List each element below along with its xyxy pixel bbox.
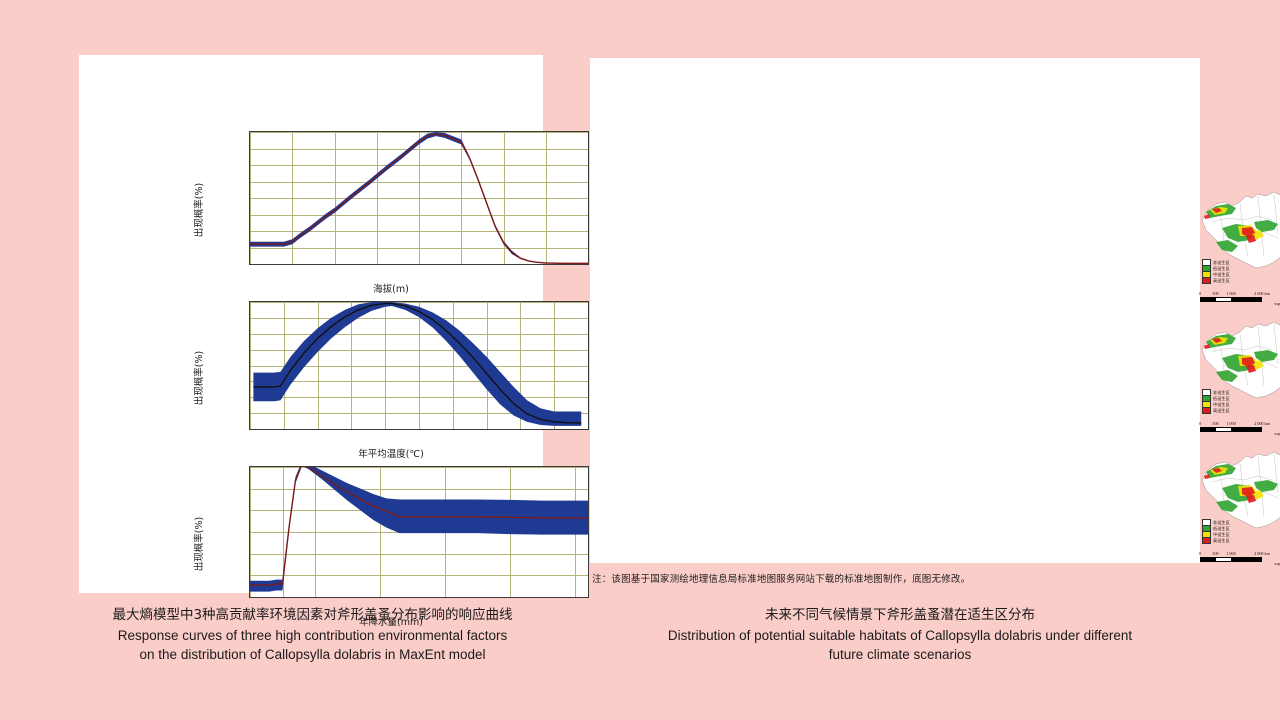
map-source-note: 注：该图基于国家测绘地理信息局标准地图服务网站下载的标准地图制作，底图无修改。 [592, 571, 1192, 585]
map-approval-number: 标准地图审图号：GS (2023) 2767 号 [1180, 540, 1280, 556]
chart-elevation-response: 出现概率(%) 0.0010.0020.0030.0040.0050.0060.… [171, 125, 611, 295]
scale-bar-segment [1231, 298, 1246, 301]
scale-bar-segment [1201, 558, 1216, 561]
chart-elevation-plot: 0.0010.0020.0030.0040.0050.0060.0070.008… [249, 131, 589, 265]
scale-bar-segment [1216, 298, 1231, 301]
slide-canvas: 出现概率(%) 0.0010.0020.0030.0040.0050.0060.… [0, 0, 1280, 720]
chart-temperature-plot: 0.0010.0020.0030.0040.0050.0060.0070.008… [249, 301, 589, 430]
chart-temperature-ylabel: 出现概率(%) [191, 350, 205, 404]
map-scenario-label: ssp126 (2041-2060) [1274, 431, 1280, 436]
map-scale-bar: 05001 0002 000 km [1200, 421, 1262, 432]
map-scenario-label: ssp126 (2061-2080) [1274, 561, 1280, 566]
left-figure-caption: 最大熵模型中3种高贡献率环境因素对斧形盖蚤分布影响的响应曲线 Response … [40, 606, 585, 665]
map-grid: N非适生区低适生区中适生区高适生区05001 0002 000 kmssp126… [1192, 178, 1280, 568]
chart-elevation-ylabel: 出现概率(%) [191, 183, 205, 237]
confidence-band [250, 132, 588, 264]
scale-bar-segment [1201, 428, 1216, 431]
chart-temperature-response: 出现概率(%) 0.0010.0020.0030.0040.0050.0060.… [171, 295, 611, 460]
left-caption-en-1: Response curves of three high contributi… [40, 626, 585, 646]
confidence-band [250, 467, 588, 592]
gridline-vertical [588, 132, 589, 264]
right-caption-en-1: Distribution of potential suitable habit… [600, 626, 1200, 646]
scale-bar-segment [1201, 298, 1216, 301]
map-legend: 非适生区低适生区中适生区高适生区 [1202, 390, 1230, 414]
chart-temperature-xlabel: 年平均温度(℃) [171, 446, 611, 460]
scale-bar-segment [1231, 558, 1246, 561]
response-curve-graphic [250, 302, 588, 429]
scale-bar-tick-label: 500 [1212, 421, 1218, 426]
legend-item: 高适生区 [1202, 408, 1230, 413]
gridline-horizontal [250, 264, 588, 265]
scale-bar-tick-label: 0 [1199, 421, 1201, 426]
scale-bar-tick-label: 2 000 km [1254, 291, 1270, 296]
scale-bar-tick-label: 1 000 [1226, 291, 1235, 296]
response-curve-graphic [250, 467, 588, 597]
gridline-horizontal [250, 429, 588, 430]
map-cell-ssp126-2021-2040[interactable]: N非适生区低适生区中适生区高适生区05001 0002 000 kmssp126… [1192, 178, 1280, 308]
response-curve-graphic [250, 132, 588, 264]
scale-bar-segment [1231, 428, 1246, 431]
legend-color-swatch [1202, 407, 1211, 414]
scale-bar-segment [1216, 558, 1231, 561]
legend-item-label: 高适生区 [1213, 278, 1230, 284]
left-caption-en-2: on the distribution of Callopsylla dolab… [40, 645, 585, 665]
chart-elevation-xlabel: 海拔(m) [171, 281, 611, 295]
scale-bar-tick-label: 500 [1212, 291, 1218, 296]
legend-item: 高适生区 [1202, 278, 1230, 283]
right-figure-caption: 未来不同气候情景下斧形盖蚤潜在适生区分布 Distribution of pot… [600, 606, 1200, 665]
right-caption-en-2: future climate scenarios [600, 645, 1200, 665]
mean-response-line [250, 134, 588, 263]
map-scenario-label: ssp126 (2021-2040) [1274, 301, 1280, 306]
scale-bar-segment [1246, 428, 1261, 431]
chart-precipitation-plot: 20.0030.0040.0050.0060.0070.0080.00-5000… [249, 466, 589, 598]
map-legend: 非适生区低适生区中适生区高适生区 [1202, 260, 1230, 284]
chart-precipitation-ylabel: 出现概率(%) [191, 517, 205, 571]
map-scale-bar: 05001 0002 000 km [1200, 291, 1262, 302]
scale-bar-tick-label: 0 [1199, 291, 1201, 296]
gridline-vertical [588, 302, 589, 429]
scale-bar-tick-label: 2 000 km [1254, 421, 1270, 426]
chart-precipitation-response: 出现概率(%) 20.0030.0040.0050.0060.0070.0080… [171, 460, 611, 628]
left-figure-panel: 出现概率(%) 0.0010.0020.0030.0040.0050.0060.… [79, 55, 543, 593]
scale-bar-segment [1246, 298, 1261, 301]
scale-bar-segment [1246, 558, 1261, 561]
scale-bar-tick-label: 1 000 [1226, 421, 1235, 426]
gridline-horizontal [250, 597, 588, 598]
legend-item-label: 高适生区 [1213, 408, 1230, 414]
map-cell-ssp126-2041-2060[interactable]: N非适生区低适生区中适生区高适生区05001 0002 000 kmssp126… [1192, 308, 1280, 438]
confidence-band [253, 302, 581, 426]
legend-color-swatch [1202, 277, 1211, 284]
left-caption-cn: 最大熵模型中3种高贡献率环境因素对斧形盖蚤分布影响的响应曲线 [40, 606, 585, 626]
right-caption-cn: 未来不同气候情景下斧形盖蚤潜在适生区分布 [600, 606, 1200, 626]
right-figure-panel: N非适生区低适生区中适生区高适生区05001 0002 000 kmssp126… [590, 58, 1200, 563]
scale-bar-segment [1216, 428, 1231, 431]
